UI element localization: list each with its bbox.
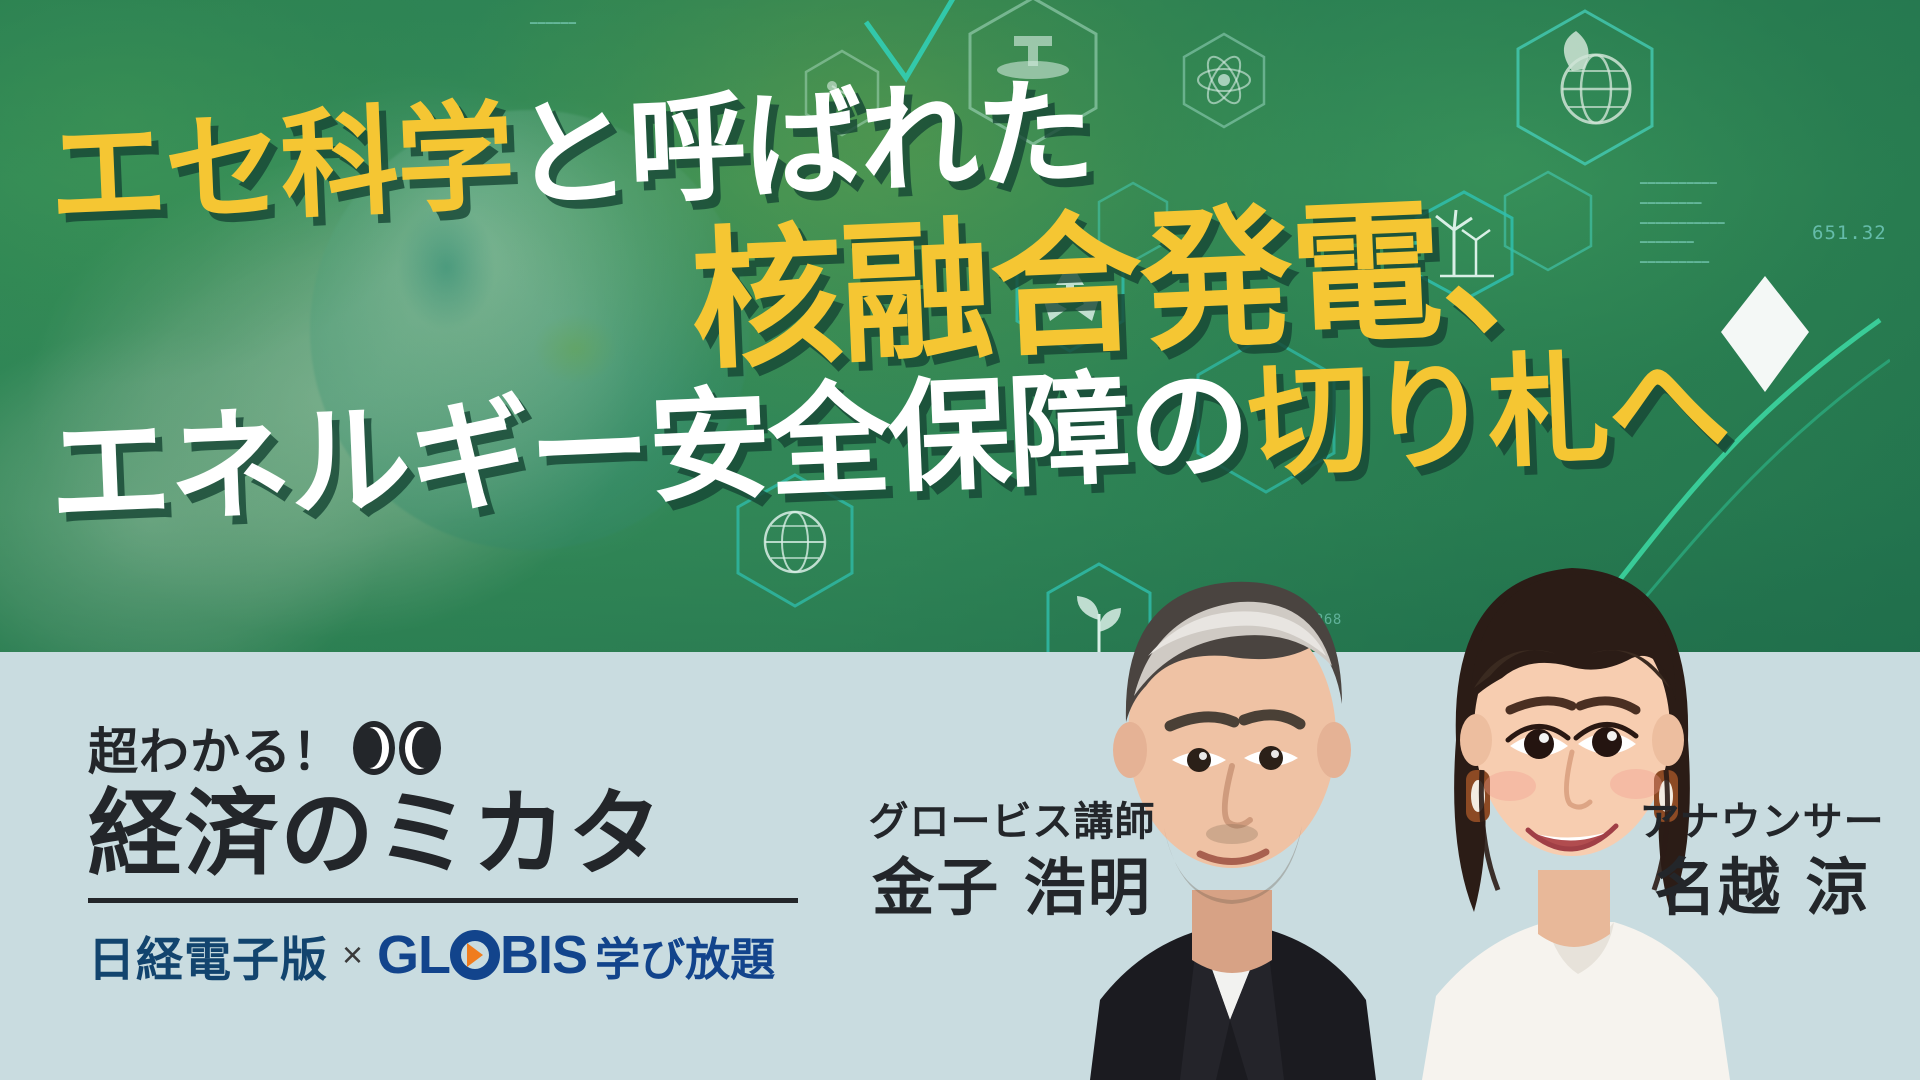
female-speaker-portrait <box>1370 440 1770 1080</box>
headline-line-1-seg-1: エセ科学 <box>46 87 515 244</box>
nikkei-logo-text: 日経電子版 <box>88 921 328 990</box>
globis-letters-b-i-s: BIS <box>500 928 587 982</box>
partner-separator-icon: × <box>342 937 363 973</box>
globis-play-o-icon <box>450 930 500 980</box>
globis-logo: GL BIS 学び放題 <box>377 923 775 988</box>
speaker-caption-right: アナウンサー 名越 涼 <box>1612 798 1912 923</box>
speaker-role-left: グロービス講師 <box>862 798 1162 846</box>
globis-wordmark: GL BIS <box>377 928 587 982</box>
program-title: 経済のミカタ <box>88 786 808 884</box>
poster-canvas: ▁▁▁▁▁▁▁▁▁▁▁▁▁▁▁▁▁▁▁▁▁▁▁▁▁▁▁▁▁▁▁▁▁▁▁▁▁▁▁▁… <box>0 0 1920 1080</box>
program-divider-rule <box>88 898 798 903</box>
program-tagline: 超わかる！ <box>88 712 343 784</box>
speaker-name-right: 名越 涼 <box>1612 852 1912 923</box>
program-tagline-row: 超わかる！ <box>88 712 808 784</box>
eye-left-icon <box>353 721 395 775</box>
globis-letters-g-l: GL <box>377 928 450 982</box>
speaker-name-left: 金子 浩明 <box>862 852 1162 923</box>
globis-service-name: 学び放題 <box>595 923 775 988</box>
pair-of-eyes-icon <box>353 721 441 775</box>
speaker-caption-left: グロービス講師 金子 浩明 <box>862 798 1162 923</box>
speaker-role-right: アナウンサー <box>1612 798 1912 846</box>
partner-logos-row: 日経電子版 × GL BIS 学び放題 <box>88 921 808 990</box>
eye-right-icon <box>399 721 441 775</box>
program-logo-block: 超わかる！ 経済のミカタ 日経電子版 × GL BIS 学び放題 <box>88 712 808 990</box>
